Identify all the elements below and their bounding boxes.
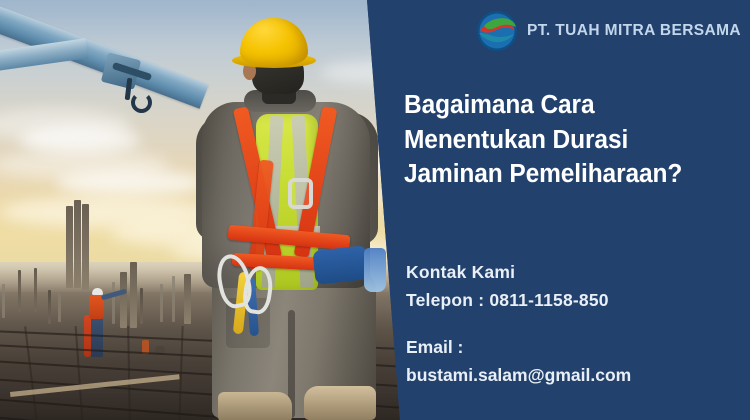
- rebar-column: [82, 204, 89, 290]
- rebar-column: [120, 272, 127, 328]
- contact-spacer: [406, 315, 746, 333]
- headline-line-2: Menentukan Durasi: [404, 123, 721, 158]
- crane-hook: [131, 92, 152, 113]
- rebar-column: [112, 282, 115, 324]
- rebar-column: [66, 206, 73, 288]
- tool-belt: [312, 245, 369, 284]
- rebar-column: [184, 274, 191, 324]
- rebar-column: [18, 270, 21, 312]
- rebar-column: [140, 288, 143, 324]
- construction-photo: [0, 0, 410, 420]
- rebar-column: [2, 284, 5, 318]
- company-logo-mark-icon: [476, 10, 518, 52]
- headline-line-1: Bagaimana Cara: [404, 88, 721, 123]
- rebar-column: [48, 290, 51, 324]
- rebar-column: [58, 292, 61, 322]
- cloud: [56, 170, 206, 196]
- contact-block: Kontak Kami Telepon : 0811-1158-850 Emai…: [406, 258, 746, 389]
- company-logo[interactable]: PT. TUAH MITRA BERSAMA: [476, 10, 741, 52]
- worker-right-boot: [304, 386, 376, 420]
- rebar-column: [160, 284, 163, 322]
- harness-d-ring: [288, 178, 313, 209]
- headline-line-3: Jaminan Pemeliharaan?: [404, 157, 721, 192]
- water-bottle: [364, 248, 386, 292]
- yellow-hard-hat: [240, 18, 308, 66]
- article-banner: PT. TUAH MITRA BERSAMA Bagaimana Cara Me…: [0, 0, 750, 420]
- worker-left-boot: [218, 392, 292, 420]
- contact-phone[interactable]: Telepon : 0811-1158-850: [406, 286, 746, 314]
- company-name: PT. TUAH MITRA BERSAMA: [527, 22, 741, 40]
- rebar-column: [74, 200, 81, 288]
- contact-heading: Kontak Kami: [406, 258, 746, 286]
- contact-email-value[interactable]: bustami.salam@gmail.com: [406, 361, 746, 389]
- distant-worker-helmet: [92, 288, 103, 295]
- rebar-column: [34, 268, 37, 312]
- contact-email-label: Email :: [406, 333, 746, 361]
- rebar-column: [172, 276, 175, 322]
- rebar-column: [130, 262, 137, 328]
- page-title: Bagaimana Cara Menentukan Durasi Jaminan…: [404, 88, 721, 192]
